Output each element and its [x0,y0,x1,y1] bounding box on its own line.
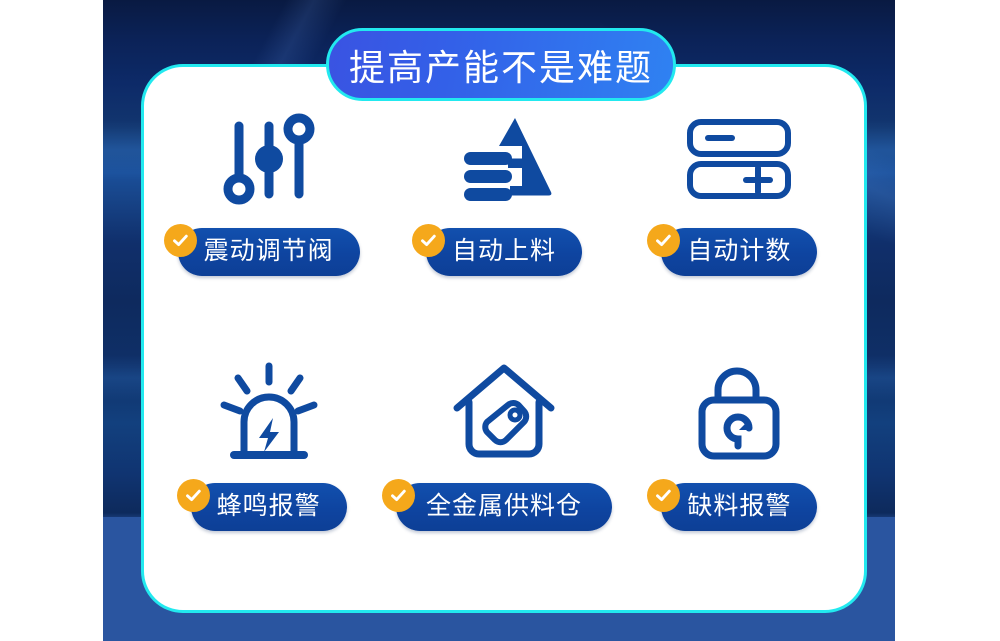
page-title: 提高产能不是难题 [349,39,653,91]
feature-label: 缺料报警 [661,483,817,531]
check-icon [177,479,210,512]
sliders-icon [217,94,321,222]
title-pill: 提高产能不是难题 [326,28,676,101]
feature-item-buzzer-alarm[interactable]: 蜂鸣报警 [151,341,386,596]
feature-item-material-shortage-alarm[interactable]: 缺料报警 [622,341,857,596]
feature-item-vibration-valve[interactable]: 震动调节阀 [151,86,386,341]
feature-label-wrap: 自动上料 [426,238,582,266]
feature-label-wrap: 震动调节阀 [178,238,360,266]
feature-item-metal-hopper[interactable]: 全金属供料仓 [386,341,621,596]
feature-label: 蜂鸣报警 [191,483,347,531]
feature-item-auto-feeding[interactable]: 自动上料 [386,86,621,341]
check-icon [647,479,680,512]
check-icon [164,224,197,257]
feature-label-wrap: 蜂鸣报警 [191,493,347,521]
promo-banner: 提高产能不是难题 [0,0,1000,641]
feature-label-wrap: 全金属供料仓 [396,493,612,521]
check-icon [412,224,445,257]
feature-label: 自动上料 [426,228,582,276]
feed-arrow-icon [452,94,556,222]
unlock-reset-icon [686,349,792,477]
house-tag-icon [451,349,557,477]
feature-label: 震动调节阀 [178,228,360,276]
feature-grid: 震动调节阀 自动上料 [141,64,867,613]
siren-alarm-icon [216,349,322,477]
feature-label-wrap: 自动计数 [661,238,817,266]
plus-minus-counter-icon [684,94,794,222]
feature-label-wrap: 缺料报警 [661,493,817,521]
check-icon [382,479,415,512]
feature-label: 全金属供料仓 [396,483,612,531]
feature-label: 自动计数 [661,228,817,276]
feature-item-auto-counting[interactable]: 自动计数 [622,86,857,341]
